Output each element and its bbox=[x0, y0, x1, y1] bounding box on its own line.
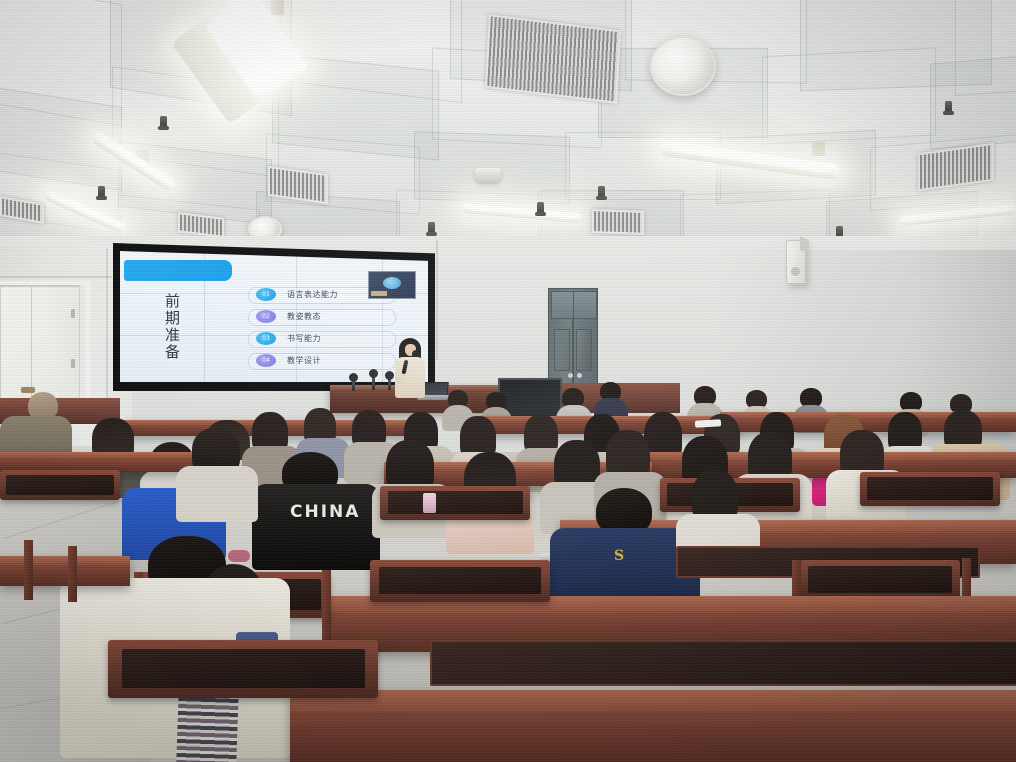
light-mount bbox=[271, 0, 284, 15]
ceiling bbox=[0, 0, 1016, 262]
slide-number-badge: 01 bbox=[256, 288, 276, 301]
sprinkler-head bbox=[160, 116, 167, 129]
bench-seat-front bbox=[370, 560, 550, 602]
projection-screen: 前期准备 01 语言表达能力 02 教姿教态 03 书写能力 04 教学设计 bbox=[120, 251, 428, 382]
bench-post bbox=[322, 570, 331, 648]
presenter bbox=[393, 338, 427, 398]
slide-logo-thumbnail bbox=[368, 271, 416, 299]
microphone-stand bbox=[388, 378, 391, 390]
hair-tie bbox=[228, 550, 250, 562]
bench-seat bbox=[860, 472, 1000, 506]
sprinkler-head bbox=[537, 202, 544, 215]
microphone-stand bbox=[352, 380, 355, 391]
hvac-vent bbox=[592, 209, 644, 235]
bench-post bbox=[24, 540, 33, 600]
slide-vertical-title: 前期准备 bbox=[162, 293, 183, 361]
slide-item-01: 01 语言表达能力 bbox=[256, 288, 338, 301]
microphone-stand bbox=[372, 376, 375, 390]
sprinkler-head bbox=[945, 101, 952, 114]
slide-number-badge: 02 bbox=[256, 310, 276, 323]
bench-post bbox=[68, 546, 77, 602]
china-jacket-text: CHINA bbox=[290, 502, 360, 522]
logo-tag bbox=[371, 291, 387, 296]
speaker-cone-icon bbox=[791, 267, 800, 276]
door-hinge-icon bbox=[71, 359, 75, 368]
desk-modesty-panel bbox=[430, 640, 1016, 686]
desk-row bbox=[0, 556, 130, 586]
sprinkler-head bbox=[428, 222, 435, 235]
slide-item-04: 04 教学设计 bbox=[256, 354, 321, 367]
desk-row bbox=[0, 452, 200, 472]
bench-seat-bottom bbox=[108, 640, 378, 698]
sprinkler-head bbox=[598, 186, 605, 199]
slide-item-label: 教学设计 bbox=[287, 355, 321, 366]
door-transom-window bbox=[551, 291, 597, 319]
s-logo-text: S bbox=[614, 548, 624, 564]
projection-screen-frame: 前期准备 01 语言表达能力 02 教姿教态 03 书写能力 04 教学设计 bbox=[113, 243, 435, 391]
lecture-hall-photo: 前期准备 01 语言表达能力 02 教姿教态 03 书写能力 04 教学设计 bbox=[0, 0, 1016, 762]
desk-row-bottom bbox=[290, 690, 1016, 762]
bench-seat bbox=[380, 486, 530, 520]
door-knob-icon[interactable] bbox=[568, 373, 573, 378]
door-handle-icon[interactable] bbox=[21, 387, 35, 393]
drink-cup bbox=[423, 493, 436, 513]
slide-item-label: 语言表达能力 bbox=[287, 289, 338, 300]
slide-number-badge: 03 bbox=[256, 332, 276, 345]
slide-item-label: 教姿教态 bbox=[287, 311, 321, 322]
slide-item-02: 02 教姿教态 bbox=[256, 310, 321, 323]
bench-seat bbox=[800, 560, 960, 600]
slide-banner bbox=[124, 260, 232, 281]
paper bbox=[695, 419, 721, 427]
bench-seat bbox=[0, 470, 120, 500]
globe-icon bbox=[383, 277, 401, 289]
smoke-detector bbox=[475, 168, 501, 182]
slide-item-03: 03 书写能力 bbox=[256, 332, 321, 345]
slide-number-badge: 04 bbox=[256, 354, 276, 367]
door-hinge-icon bbox=[71, 309, 75, 318]
wall-speaker bbox=[786, 240, 806, 284]
dome-ceiling-light bbox=[650, 36, 716, 96]
sprinkler-head bbox=[98, 186, 105, 199]
door-knob-icon[interactable] bbox=[577, 373, 582, 378]
slide-item-label: 书写能力 bbox=[287, 333, 321, 344]
